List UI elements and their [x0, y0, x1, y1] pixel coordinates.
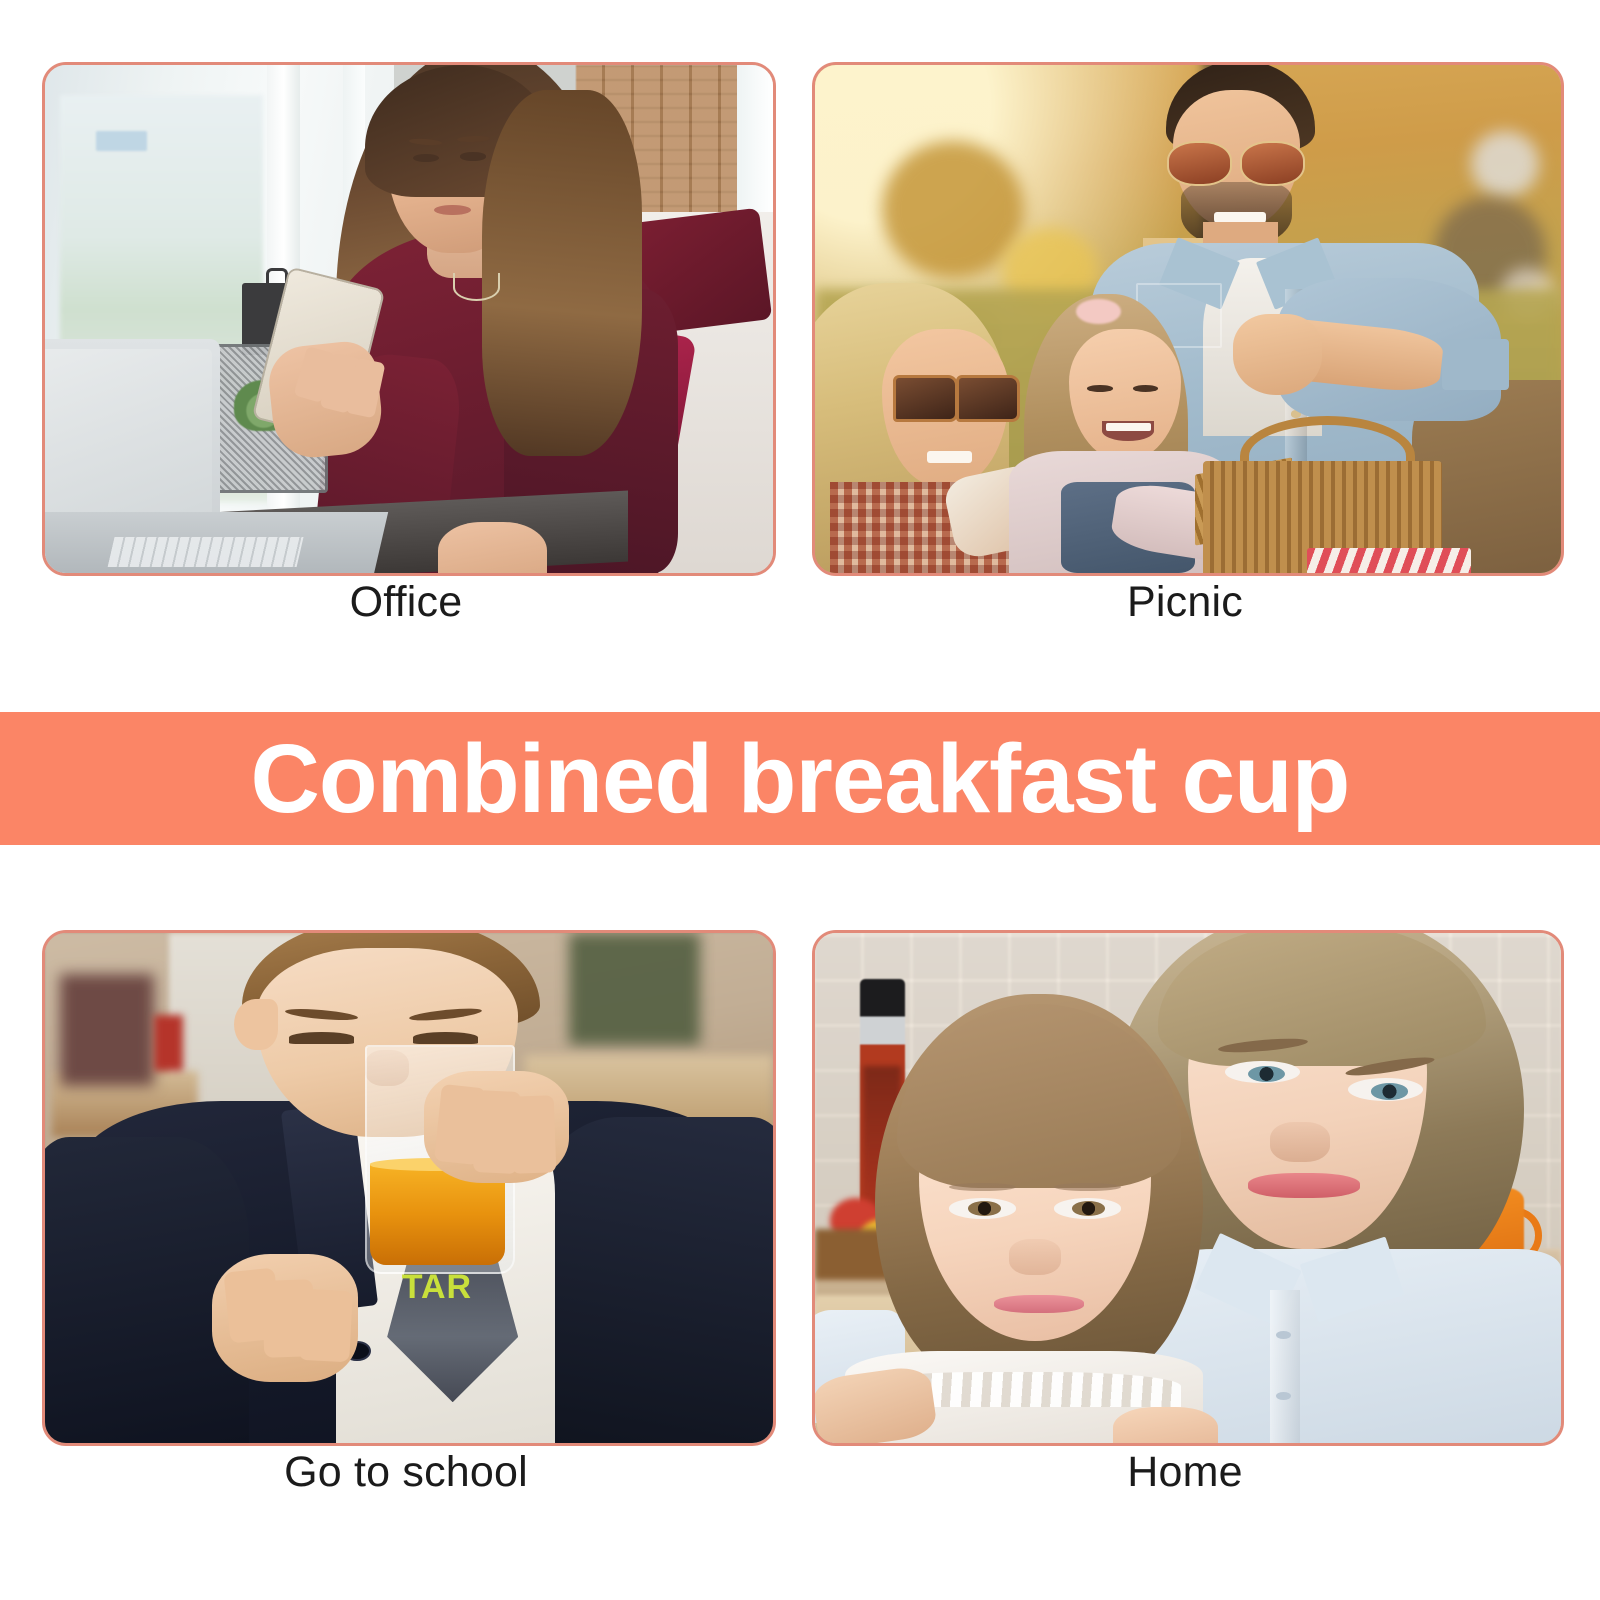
scenario-label-picnic: Picnic: [812, 578, 1558, 627]
go-to-school-photo: TAR: [45, 933, 773, 1443]
office-photo: [45, 65, 773, 573]
scenario-label-office: Office: [42, 578, 770, 627]
home-photo: [815, 933, 1561, 1443]
tshirt-graphic-text: TAR: [402, 1270, 504, 1311]
scenario-label-school: Go to school: [42, 1448, 770, 1497]
scenario-card-office[interactable]: [42, 62, 776, 576]
scenario-label-home: Home: [812, 1448, 1558, 1497]
product-usage-scenarios-poster: Office: [0, 0, 1600, 1600]
headline-banner: Combined breakfast cup: [0, 712, 1600, 845]
scenario-card-home[interactable]: [812, 930, 1564, 1446]
scenario-card-picnic[interactable]: [812, 62, 1564, 576]
picnic-photo: [815, 65, 1561, 573]
scenario-card-school[interactable]: TAR: [42, 930, 776, 1446]
headline-text: Combined breakfast cup: [251, 730, 1350, 827]
